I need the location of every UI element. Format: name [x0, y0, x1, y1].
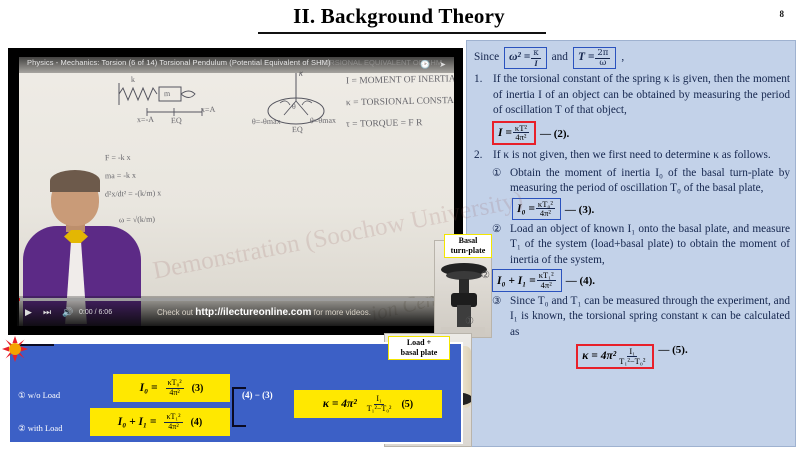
label-load-basal-plate: Load + basal plate	[388, 336, 450, 360]
eq2-fraction: κT² 4π²	[513, 124, 529, 142]
period-fraction: 2π ω	[595, 49, 610, 67]
time-display: 0:00 / 6:06	[79, 309, 112, 316]
promo-url[interactable]: http://ilectureonline.com	[195, 307, 311, 318]
promo-text: Check out http://ilectureonline.com for …	[157, 307, 371, 318]
title-bar: II. Background Theory 8	[0, 2, 798, 32]
eq3-tag: — (3).	[565, 203, 594, 215]
sum-eq5-denominator: T₁²−T₀²	[365, 405, 394, 413]
theory-intro-line: Since ω² = κ I and T = 2π ω ,	[474, 47, 790, 69]
formula-period: T = 2π ω	[573, 47, 616, 69]
eq5-lhs: κ = 4π²	[582, 350, 616, 362]
promo-suffix: for more videos.	[311, 308, 371, 317]
subitem-1-marker: ①	[492, 166, 506, 182]
page-title: II. Background Theory	[0, 4, 798, 29]
sum-eq5-tag: (5)	[401, 399, 413, 410]
hw-force-1: F = -k x	[105, 153, 131, 163]
eq2-denominator: 4π²	[513, 133, 528, 142]
summary-row2-label: ② with Load	[18, 423, 62, 434]
theory-subitem-3: ③ Since T₀ and T₁ can be measured throug…	[492, 294, 790, 341]
next-track-icon[interactable]: ⏭	[43, 307, 51, 318]
sum-eq5-lhs: κ = 4π²	[323, 398, 357, 410]
summary-operation-label: (4) − (3)	[242, 390, 273, 400]
label-load-line2: basal plate	[392, 348, 446, 358]
eq5-denominator: T₁²−T₀²	[617, 357, 647, 366]
formula-5-boxed: κ = 4π² I₁ T₁²−T₀²	[576, 344, 654, 368]
summary-equation-3: I₀ = κT₀² 4π² (3)	[113, 374, 230, 402]
eq5-fraction: I₁ T₁²−T₀²	[617, 347, 647, 365]
title-underline	[258, 32, 546, 34]
intro-comma: ,	[621, 50, 624, 66]
intro-and: and	[552, 50, 568, 66]
item-1-text: If the torsional constant of the spring …	[493, 72, 790, 119]
subitem-3-text: Since T₀ and T₁ can be measured through …	[510, 294, 790, 341]
subitem-2-marker: ②	[492, 222, 506, 238]
omega-lhs: ω² =	[509, 50, 530, 66]
eq4-tag: — (4).	[566, 275, 595, 287]
hw-line-inertia: I = MOMENT OF INERTIA = ½ m R²	[346, 73, 454, 86]
period-denominator: ω	[597, 59, 608, 68]
formula-omega-squared: ω² = κ I	[504, 47, 547, 69]
eq3-denominator: 4π²	[538, 209, 553, 218]
summary-equation-4: I₀ + I₁ = κT₁² 4π² (4)	[90, 408, 230, 436]
video-player[interactable]: k m x=A x=-A EQ 𝜅 θ θ=-θmax θ=θmax	[8, 48, 463, 335]
video-title-bar: Physics - Mechanics: Torsion (6 of 14) T…	[19, 57, 454, 73]
formula-4-boxed: I₀ + I₁ = κT₁² 4π²	[492, 269, 562, 291]
formula-3-boxed: I₀ = κT₀² 4π²	[512, 198, 561, 220]
sum-eq5-fraction: I₁ T₁²−T₀²	[365, 395, 394, 412]
sum-eq4-denominator: 4π²	[166, 423, 180, 431]
sum-eq3-denominator: 4π²	[167, 389, 181, 397]
summary-row1-label: ① w/o Load	[18, 390, 60, 401]
torsional-disk-diagram: 𝜅 θ θ=-θmax θ=θmax EQ	[254, 71, 354, 133]
label-basal-turn-plate: Basal turn-plate	[444, 234, 492, 258]
label-basal-line1: Basal	[448, 236, 488, 246]
hw-line-torque: τ = TORQUE = F R	[346, 118, 423, 130]
sum-eq3-fraction: κT₀² 4π²	[166, 379, 184, 396]
theory-item-1: 1. If the torsional constant of the spri…	[474, 72, 790, 119]
formula-2-boxed: I = κT² 4π²	[492, 121, 536, 145]
slide-canvas: II. Background Theory 8 k m x=A x=-A	[0, 0, 798, 449]
photo-marker-one: ①	[465, 316, 474, 327]
subitem-2-text: Load an object of known I₁ onto the basa…	[510, 222, 790, 269]
theory-item-2: 2. If κ is not given, then we first need…	[474, 148, 790, 164]
eq4-fraction: κT₁² 4π²	[537, 271, 556, 289]
sum-eq4-fraction: κT₁² 4π²	[164, 413, 182, 430]
label-basal-line2: turn-plate	[448, 246, 488, 256]
eq3-lhs: I₀ =	[517, 203, 535, 215]
intro-since: Since	[474, 50, 499, 66]
play-icon[interactable]: ▶	[25, 307, 32, 318]
item-2-text: If κ is not given, then we first need to…	[493, 148, 771, 164]
eq4-lhs: I₀ + I₁ =	[497, 275, 536, 287]
video-title: Physics - Mechanics: Torsion (6 of 14) T…	[27, 58, 331, 67]
watch-later-icon[interactable]: 🕑	[420, 60, 430, 69]
progress-fill	[19, 298, 20, 301]
omega-denominator: I	[532, 59, 539, 68]
spring-mass-diagram: k m x=A x=-A EQ	[117, 79, 237, 117]
item-1-number: 1.	[474, 72, 489, 88]
eq4-denominator: 4π²	[539, 281, 554, 290]
period-lhs: T =	[578, 50, 594, 66]
sum-eq4-lhs: I₀ + I₁ =	[118, 416, 157, 428]
theory-panel: Since ω² = κ I and T = 2π ω ,	[466, 40, 796, 447]
page-number: 8	[780, 9, 785, 19]
volume-icon[interactable]: 🔊	[62, 307, 73, 318]
summary-equation-5: κ = 4π² I₁ T₁²−T₀² (5)	[294, 390, 442, 418]
theory-subitem-1: ① Obtain the moment of inertia I₀ of the…	[492, 166, 790, 197]
omega-fraction: κ I	[531, 49, 540, 67]
label-load-line1: Load +	[392, 338, 446, 348]
share-icon[interactable]: ➤	[439, 60, 446, 69]
theory-subitem-2: ② Load an object of known I₁ onto the ba…	[492, 222, 790, 269]
sum-eq4-tag: (4)	[191, 417, 203, 428]
progress-scrubber[interactable]	[19, 298, 452, 301]
video-frame: k m x=A x=-A EQ 𝜅 θ θ=-θmax θ=θmax	[19, 57, 454, 326]
promo-prefix: Check out	[157, 308, 195, 317]
eq2-lhs: I =	[498, 127, 512, 139]
item-2-number: 2.	[474, 148, 489, 164]
sum-eq3-lhs: I₀ =	[140, 382, 158, 394]
subitem-3-marker: ③	[492, 294, 506, 310]
video-controls-bar[interactable]: ▶ ⏭ 🔊 0:00 / 6:06 Check out http://ilect…	[17, 296, 454, 326]
eq3-fraction: κT₀² 4π²	[536, 200, 555, 218]
sun-burst-icon	[2, 336, 28, 362]
subitem-1-text: Obtain the moment of inertia I₀ of the b…	[510, 166, 790, 197]
eq2-tag: — (2).	[540, 128, 569, 140]
photo-marker-two: ②	[481, 270, 490, 281]
sum-eq3-tag: (3)	[192, 383, 204, 394]
eq5-tag: — (5).	[658, 344, 687, 368]
